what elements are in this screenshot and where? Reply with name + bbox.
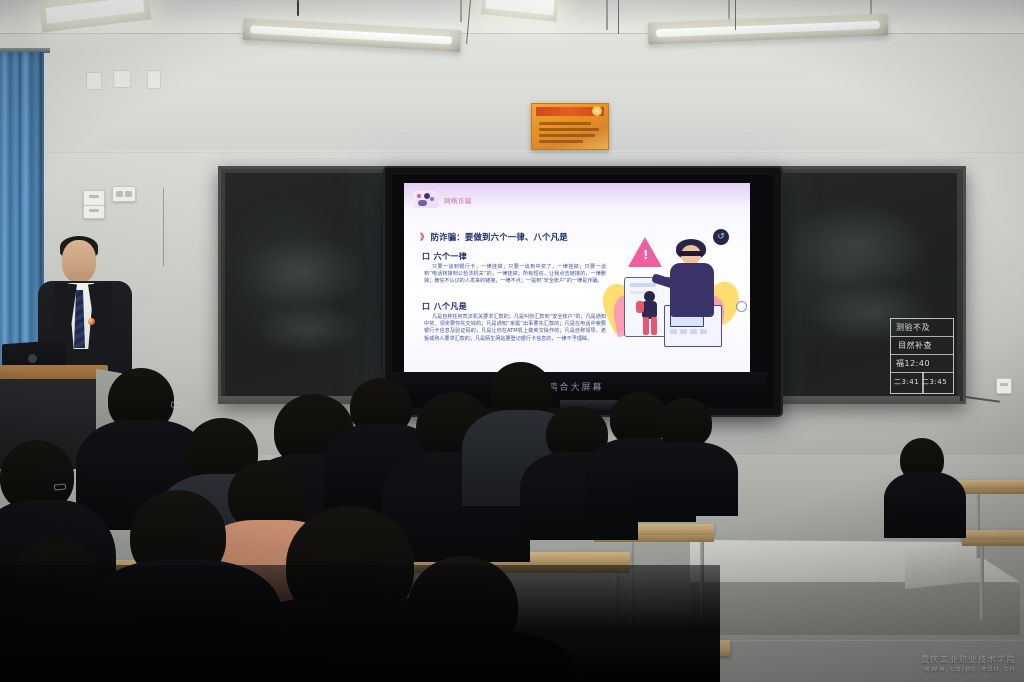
light-switch[interactable] [112,186,136,202]
heading-marker-icon: 》 [420,232,429,242]
watermark: 重庆工业职业技术学院 www.cqipc.edu.cn [921,655,1016,674]
chalk-note-box: 测验不及 目然补查 福12:40 二3:41 二3:45 [890,318,954,394]
chalk-line-1: 测验不及 [896,324,930,332]
light-stem [460,0,462,22]
wall-cable [163,188,164,266]
platform-step [905,541,980,589]
glasses [54,483,67,490]
foreground-shadow [0,565,720,682]
light-stem [606,0,608,30]
wall-poster [531,103,609,150]
hacker-mask [679,251,703,256]
laptop-logo-icon [28,354,37,363]
slide-section-1-title: 口 六个一律 [422,251,467,262]
hacker-body [670,263,714,317]
poster-text-line [539,140,583,143]
poster-text-line [539,122,591,125]
slide-section-2-title: 口 八个凡是 [422,301,467,312]
floor-line [700,640,1024,641]
ceiling-cable [735,0,736,30]
ceiling-cable [618,0,619,34]
slide-section-2-body: 凡是自称任何司法机关要求汇款的；凡是叫你汇款到“安全账户”的；凡是通知中奖、领奖… [424,314,606,343]
desk-leg [980,546,984,620]
presenter-lapel-pin [88,318,95,325]
wall-seam-mid [0,152,1024,153]
poster-text-line [539,134,595,137]
chalk-line-3: 福12:40 [896,360,930,368]
glasses [171,401,184,408]
desk [962,530,1024,540]
slide-logo-label: 网络诈骗 [444,195,472,205]
wall-mark [147,70,161,89]
watermark-url: www.cqipc.edu.cn [921,665,1016,674]
classroom-photo-scene: 测验不及 目然补查 福12:40 二3:41 二3:45 网络诈骗 》防诈骗：要… [0,0,1024,682]
light-stem [870,0,872,14]
wall-outlet-right[interactable] [996,378,1012,394]
wall-outlet[interactable] [83,205,105,219]
ceiling-cable [297,0,299,16]
chalk-line-2: 目然补查 [898,342,932,350]
thief-backpack [636,301,644,313]
warning-exclamation: ! [643,249,648,261]
blackboard-panel-left [225,173,385,397]
desk-edge [962,540,1024,546]
slide-heading: 》防诈骗：要做到六个一律、八个凡是 [420,231,568,243]
thief-leg [651,317,657,335]
slide-logo-icon [413,191,439,208]
display-brand-label: 鸿合大屏幕 [548,380,603,393]
slide-section-1-body: 只要一谈到银行卡，一律挂掉；只要一谈到中奖了，一律挂掉；只要一谈到“电话转接到公… [424,264,606,286]
wall-mark [86,72,102,90]
security-badge-icon: ↺ [713,229,729,245]
poster-text-line [539,128,599,131]
thief-leg [643,317,649,335]
wall-mark [113,70,131,88]
chalk-line-4: 二3:41 二3:45 [894,378,947,386]
slide-illustration: ! ↺ [600,225,746,377]
light-stem [728,0,730,20]
watermark-institution: 重庆工业职业技术学院 [921,655,1016,665]
poster-seal [592,106,602,116]
slide-content: 网络诈骗 》防诈骗：要做到六个一律、八个凡是 口 六个一律 只要一谈到银行卡，一… [404,183,750,387]
slide-heading-text: 防诈骗：要做到六个一律、八个凡是 [431,232,568,242]
decorative-ring [736,301,747,312]
